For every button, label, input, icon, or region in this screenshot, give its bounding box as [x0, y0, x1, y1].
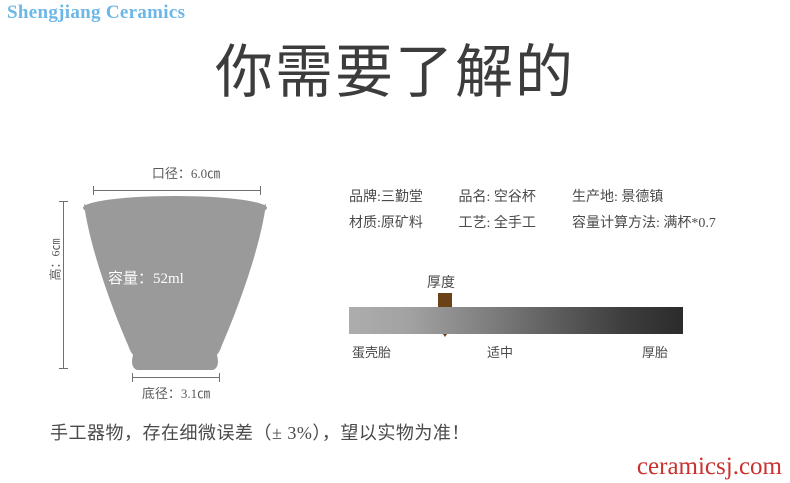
capacity-label: 容量：52ml: [108, 267, 258, 288]
thickness-label-medium: 适中: [487, 342, 513, 361]
rim-dimension-line: [93, 186, 261, 195]
spec-craft: 工艺: 全手工: [459, 211, 569, 237]
rim-diameter-label: 口径：6.0㎝: [106, 163, 266, 182]
cup-foot-shape: [132, 355, 218, 370]
dimension-line-bar: [132, 377, 220, 378]
specification-block: 品牌:三勤堂 品名: 空谷杯 生产地: 景德镇 材质:原矿料 工艺: 全手工 容…: [349, 185, 769, 237]
spec-product-name: 品名: 空谷杯: [459, 185, 569, 211]
dimension-line-cap-bottom: [59, 368, 68, 369]
brand-logo: Shengjiang Ceramics: [7, 2, 185, 24]
base-dimension-line: [132, 373, 220, 382]
website-url: ceramicsj.com: [637, 453, 782, 481]
thickness-gradient-bar: [349, 307, 683, 334]
spec-brand: 品牌:三勤堂: [349, 185, 455, 211]
disclaimer-text: 手工器物，存在细微误差（± 3%），望以实物为准！: [50, 419, 470, 445]
thickness-gauge: 厚度 蛋壳胎 适中 厚胎: [349, 272, 683, 368]
spec-capacity-method: 容量计算方法: 满杯*0.7: [572, 211, 716, 237]
dimension-line-cap-right: [219, 373, 220, 382]
dimension-line-bar: [93, 190, 261, 191]
spec-origin: 生产地: 景德镇: [572, 185, 663, 211]
dimension-line-cap-right: [260, 186, 261, 195]
thickness-label-thick: 厚胎: [642, 342, 668, 361]
height-label: 高：6㎝: [47, 220, 64, 300]
cup-diagram: 口径：6.0㎝ 高：6㎝ 容量：52ml 底径：3.1㎝: [20, 155, 310, 395]
spec-row: 材质:原矿料 工艺: 全手工 容量计算方法: 满杯*0.7: [349, 211, 769, 237]
thickness-scale-labels: 蛋壳胎 适中 厚胎: [349, 342, 683, 362]
spec-material: 材质:原矿料: [349, 211, 455, 237]
base-diameter-label: 底径：3.1㎝: [96, 383, 256, 402]
spec-row: 品牌:三勤堂 品名: 空谷杯 生产地: 景德镇: [349, 185, 769, 211]
thickness-gauge-title: 厚度: [427, 272, 455, 292]
thickness-label-eggshell: 蛋壳胎: [352, 342, 391, 361]
product-info-banner: Shengjiang Ceramics 你需要了解的 口径：6.0㎝ 高：6㎝ …: [0, 0, 790, 483]
page-title: 你需要了解的: [0, 38, 790, 106]
